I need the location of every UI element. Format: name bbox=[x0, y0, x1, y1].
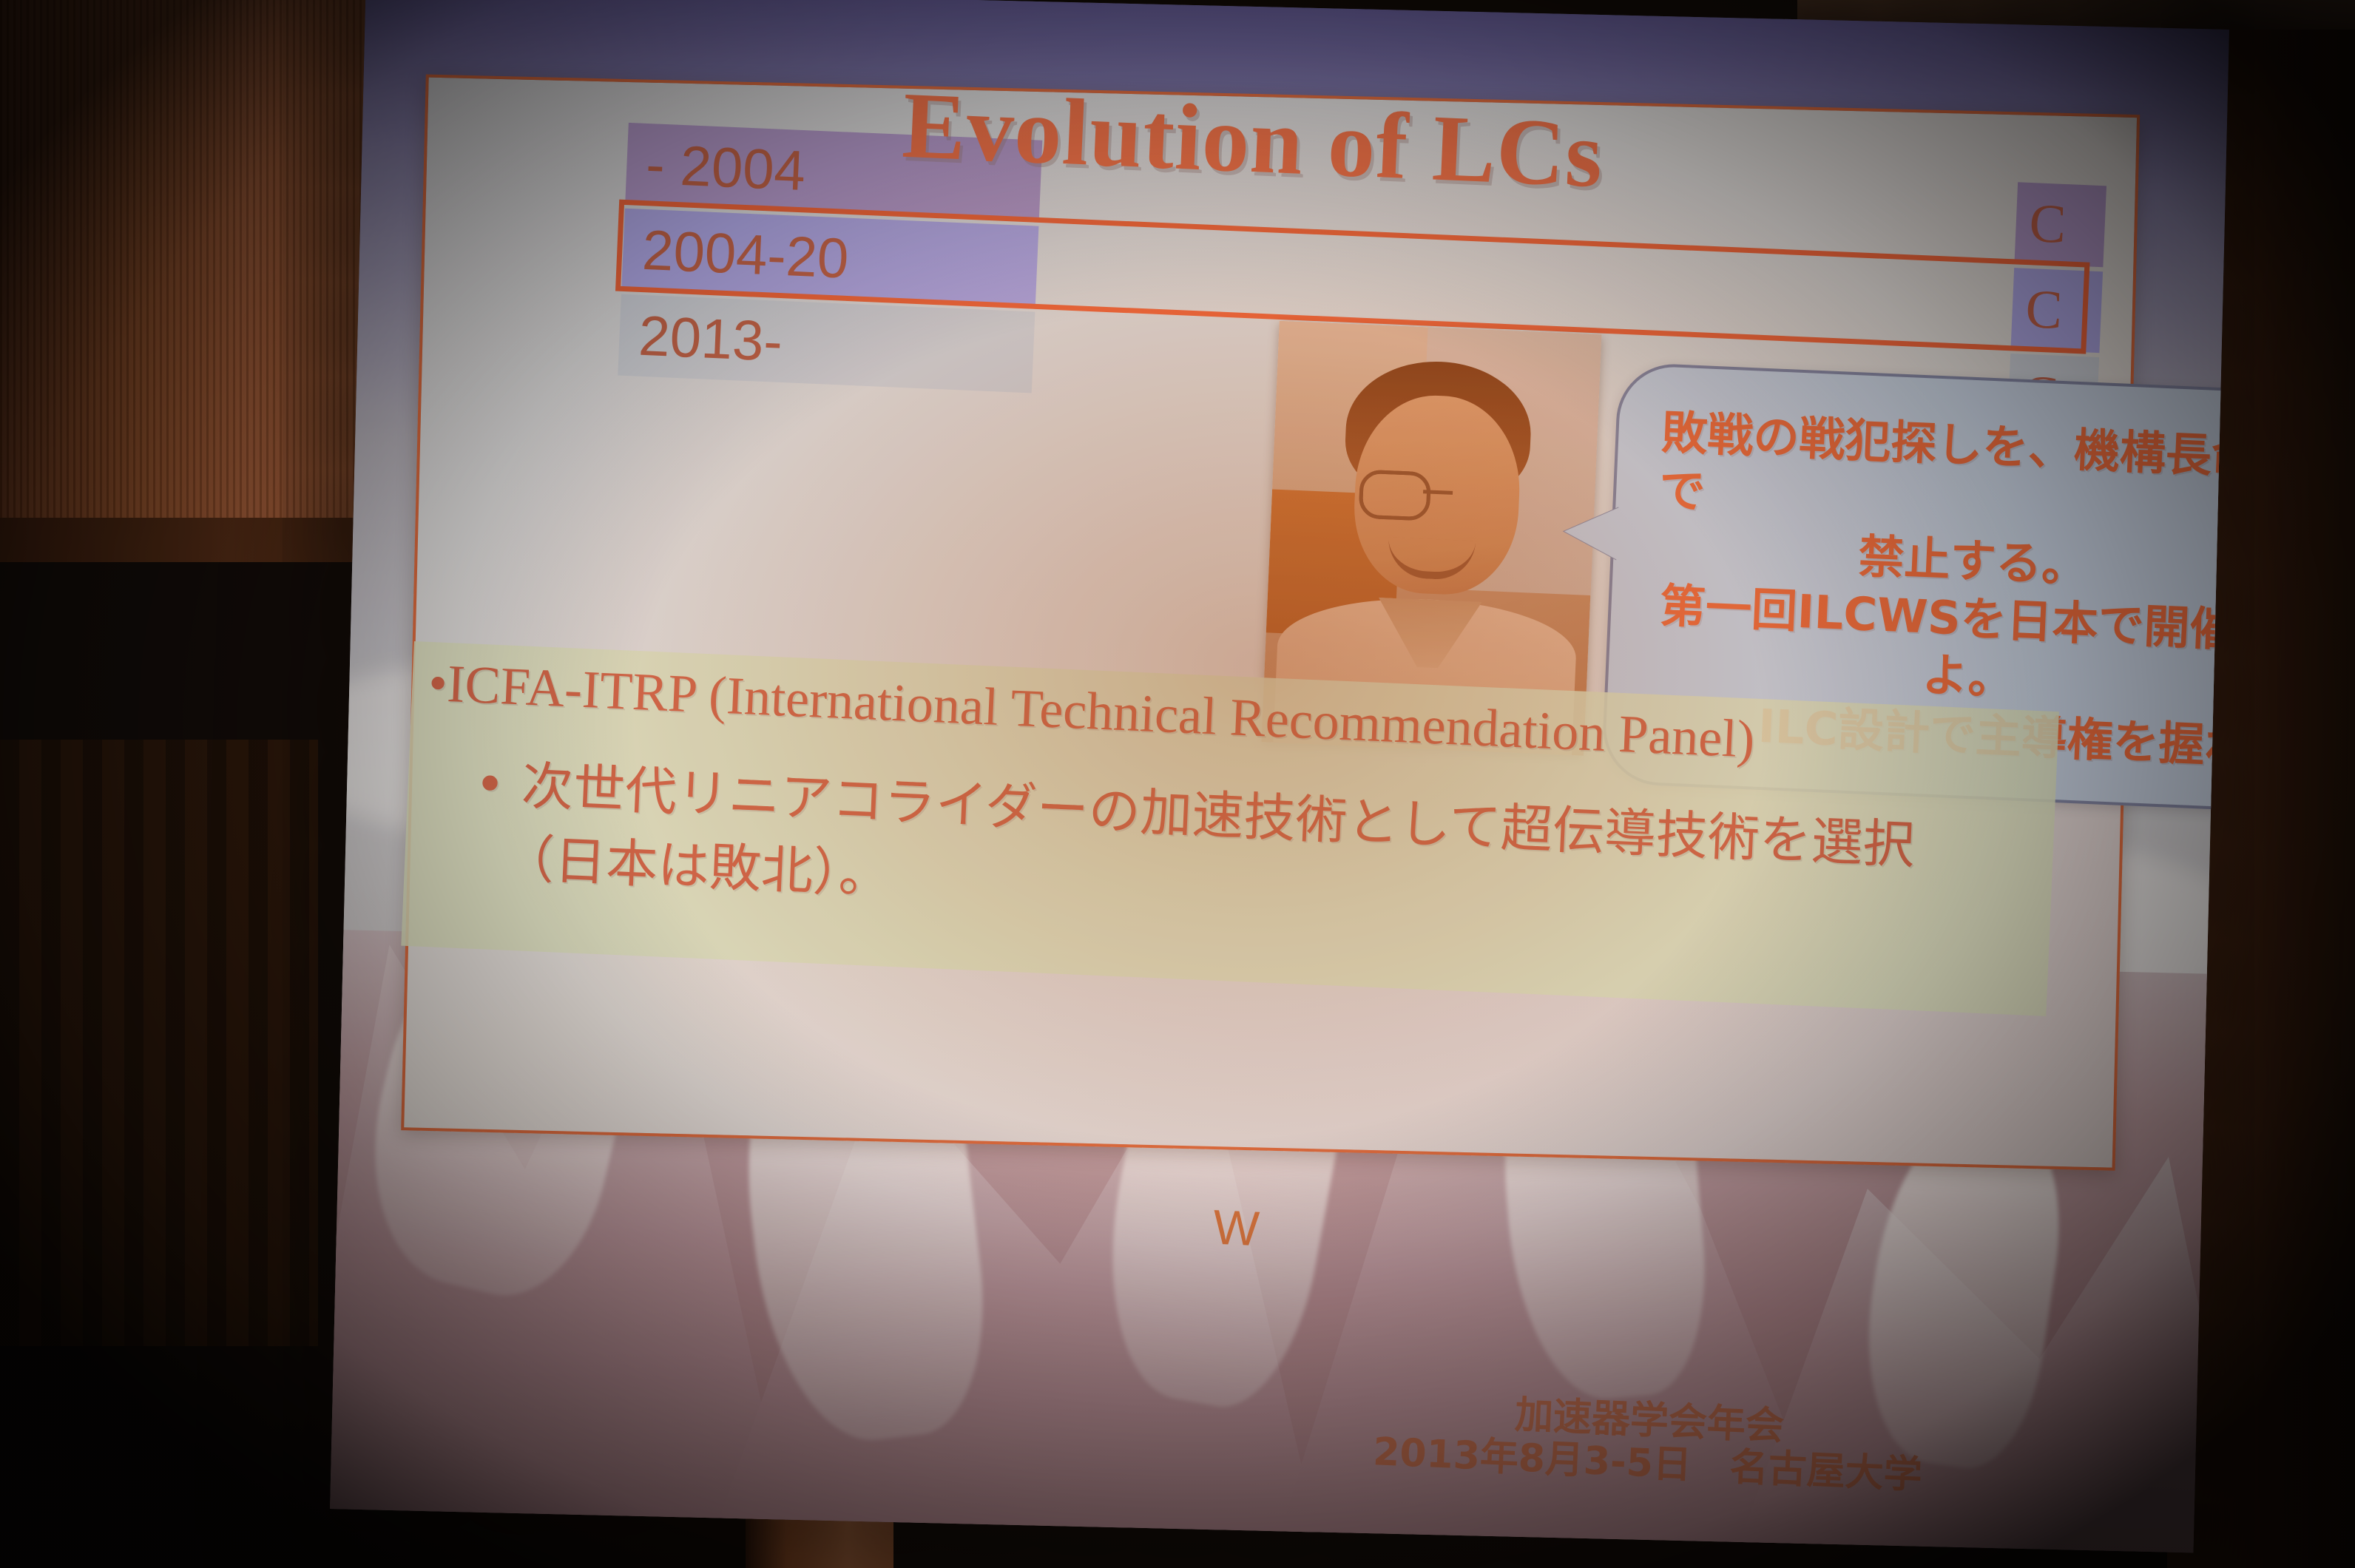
stray-character: W bbox=[1212, 1198, 1260, 1257]
era-period: 2013- bbox=[618, 294, 1035, 393]
era-code: C bbox=[2014, 182, 2106, 267]
bullet-item-japanese: • 次世代リニアコライダーの加速技術として超伝導技術を選択 （日本は敗北）。 bbox=[470, 748, 2058, 962]
wood-wall-panel bbox=[0, 0, 414, 518]
era-code: C bbox=[2010, 268, 2103, 353]
projected-slide: W - 2004 C 2004-20 C 2013- C bbox=[330, 0, 2229, 1552]
photo-of-projection-screen: W - 2004 C 2004-20 C 2013- C bbox=[0, 0, 2355, 1568]
speech-balloon-tail bbox=[1563, 504, 1620, 560]
wood-slat-wall bbox=[0, 740, 318, 1346]
projection-screen: W - 2004 C 2004-20 C 2013- C bbox=[330, 0, 2229, 1552]
era-period: 2004-20 bbox=[621, 209, 1038, 308]
